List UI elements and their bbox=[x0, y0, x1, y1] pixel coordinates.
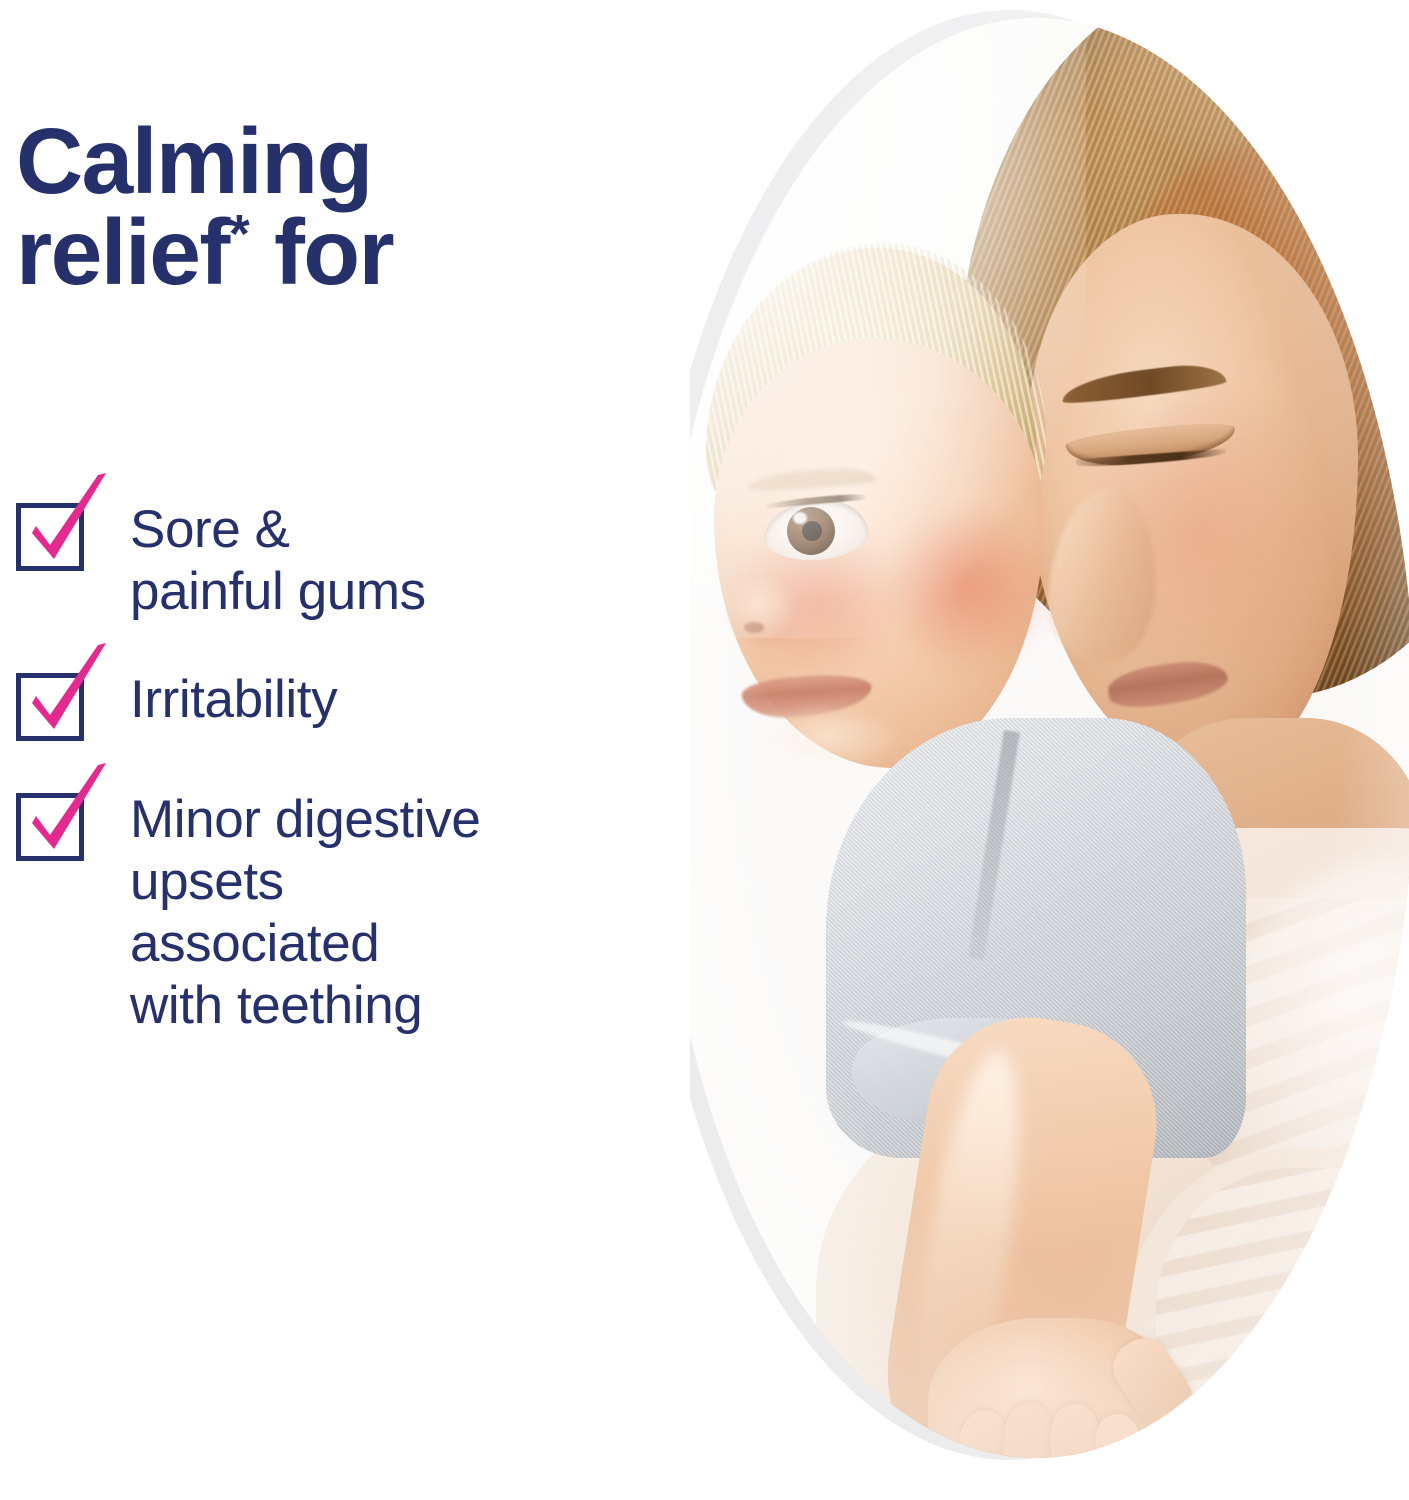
checkbox-checked-icon bbox=[16, 495, 94, 573]
checkmark-glyph bbox=[10, 641, 122, 753]
checkmark-glyph bbox=[10, 761, 122, 873]
list-item-line: Minor digestive bbox=[130, 790, 480, 849]
page-title: Calmingrelief* for bbox=[16, 116, 616, 298]
list-item-line: painful gums bbox=[130, 562, 426, 621]
list-item-line: with teething bbox=[130, 976, 422, 1035]
baby-nostril bbox=[744, 622, 764, 633]
list-item-label: Irritability bbox=[130, 665, 337, 731]
baby-pupil bbox=[802, 521, 822, 541]
checkbox-checked-icon bbox=[16, 785, 94, 863]
list-item-label: Sore &painful gums bbox=[130, 495, 426, 623]
asterisk-footnote-marker: * bbox=[229, 204, 250, 264]
headline-line-2-word: relief bbox=[16, 200, 229, 304]
list-item-line: Sore & bbox=[130, 500, 290, 559]
checkmark-glyph bbox=[10, 471, 122, 583]
checkbox-checked-icon bbox=[16, 665, 94, 743]
baby-cheek-blush-right bbox=[886, 508, 1056, 673]
benefits-list: Sore &painful gums Irritability bbox=[16, 495, 646, 1079]
list-item: Minor digestiveupsetsassociatedwith teet… bbox=[16, 785, 646, 1037]
photo-scene bbox=[656, 18, 1409, 1458]
baby-chin-highlight bbox=[752, 712, 902, 772]
promo-banner: Calmingrelief* for Sore &painful gums bbox=[0, 0, 1409, 1500]
copy-column: Calmingrelief* for Sore &painful gums bbox=[0, 0, 660, 1500]
list-item: Irritability bbox=[16, 665, 646, 743]
list-item-line: Irritability bbox=[130, 670, 337, 729]
list-item-line: associated bbox=[130, 914, 379, 973]
mother-hugging-baby-photo bbox=[656, 18, 1409, 1458]
list-item-label: Minor digestiveupsetsassociatedwith teet… bbox=[130, 785, 480, 1037]
headline-line-1: Calming bbox=[16, 109, 372, 213]
baby-eye-glint bbox=[793, 512, 807, 524]
headline-line-2-tail: for bbox=[250, 200, 393, 304]
list-item: Sore &painful gums bbox=[16, 495, 646, 623]
list-item-line: upsets bbox=[130, 852, 284, 911]
photo-panel bbox=[620, 0, 1409, 1500]
baby-nose bbox=[728, 578, 800, 644]
